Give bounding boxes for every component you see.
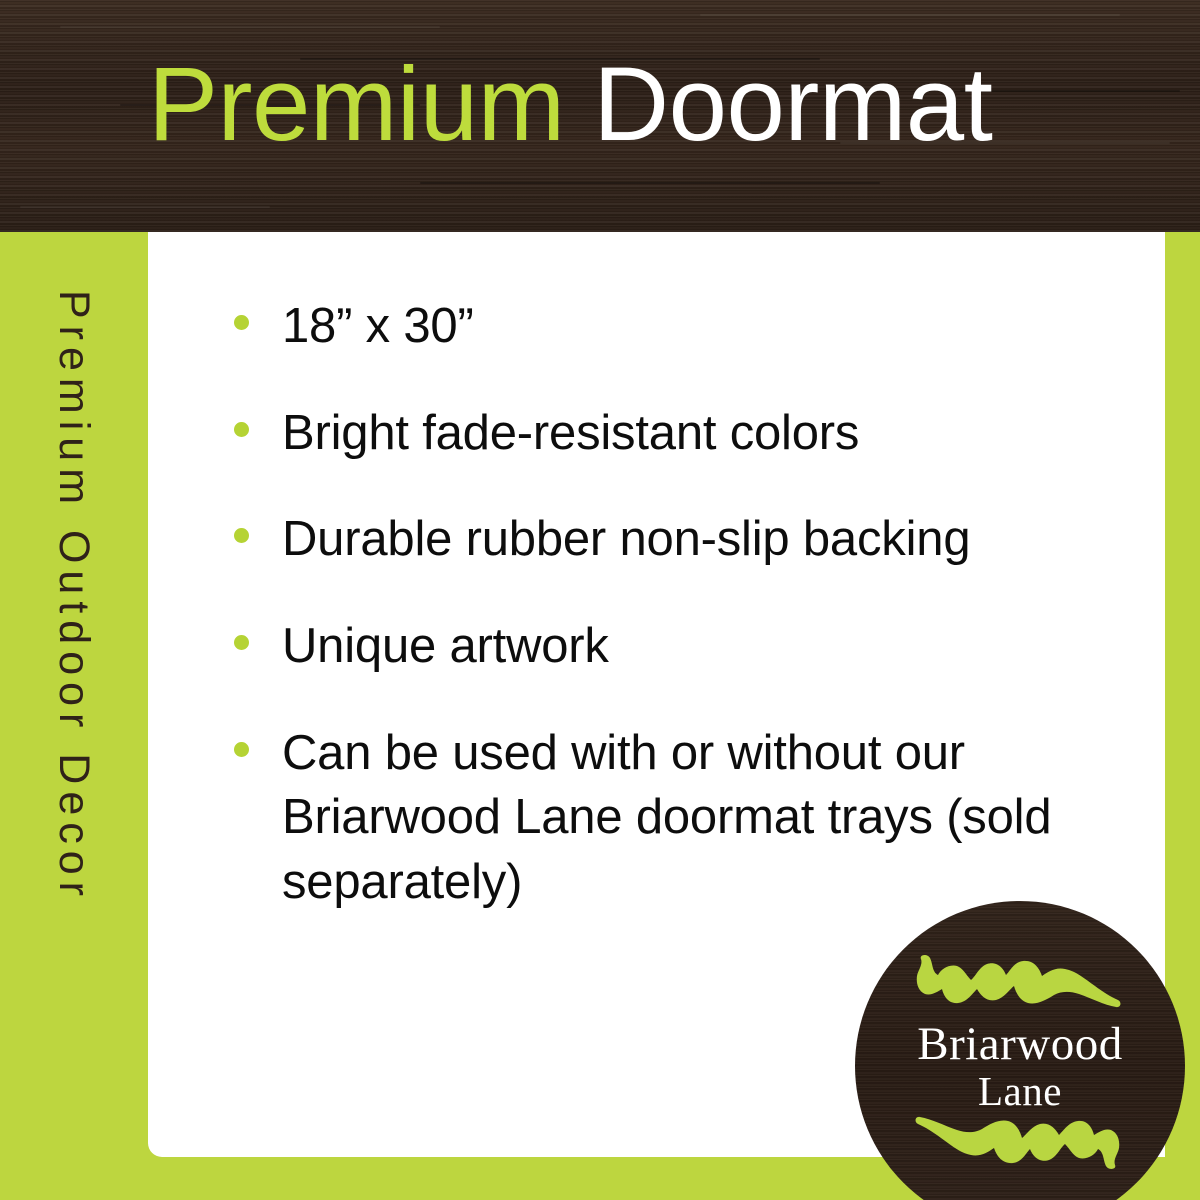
- brand-logo-badge: Briarwood Lane: [855, 901, 1185, 1200]
- feature-list: 18” x 30” Bright fade-resistant colors D…: [230, 294, 1140, 915]
- list-item: Bright fade-resistant colors: [230, 401, 1140, 466]
- page-title: Premium Doormat: [148, 52, 992, 157]
- list-item: 18” x 30”: [230, 294, 1140, 359]
- sidebar-label-wrapper: Premium Outdoor Decor: [0, 232, 148, 1200]
- wood-grain-streak: [700, 14, 1120, 16]
- wood-grain-streak: [20, 206, 270, 208]
- brand-wordmark: Briarwood Lane: [855, 1021, 1185, 1114]
- sidebar-category-label: Premium Outdoor Decor: [49, 290, 98, 903]
- list-item: Can be used with or without our Briarwoo…: [230, 721, 1140, 915]
- brand-name-line-1: Briarwood: [855, 1021, 1185, 1069]
- bullet-dot-icon: [234, 422, 249, 437]
- wood-grain-streak: [420, 182, 880, 184]
- product-feature-card: Premium Doormat Premium Outdoor Decor 18…: [0, 0, 1200, 1200]
- feature-text: 18” x 30”: [282, 299, 474, 353]
- header-wood-banner: Premium Doormat: [0, 0, 1200, 232]
- page-title-accent: Premium: [148, 46, 565, 163]
- list-item: Unique artwork: [230, 614, 1140, 679]
- page-title-main: Doormat: [593, 46, 992, 163]
- bullet-dot-icon: [234, 742, 249, 757]
- bullet-dot-icon: [234, 315, 249, 330]
- feature-text: Durable rubber non-slip backing: [282, 512, 970, 566]
- list-item: Durable rubber non-slip backing: [230, 507, 1140, 572]
- wood-grain-streak: [960, 90, 1180, 92]
- brand-name-line-2: Lane: [855, 1069, 1185, 1114]
- feature-text: Unique artwork: [282, 619, 609, 673]
- wood-grain-streak: [60, 26, 440, 28]
- sidebar-vertical-band: Premium Outdoor Decor: [0, 232, 148, 1200]
- oak-leaf-icon: [913, 953, 1123, 1015]
- feature-text: Can be used with or without our Briarwoo…: [282, 726, 1051, 909]
- bullet-dot-icon: [234, 528, 249, 543]
- oak-leaf-icon: [913, 1109, 1123, 1171]
- feature-text: Bright fade-resistant colors: [282, 406, 859, 460]
- brand-logo-content: Briarwood Lane: [855, 901, 1185, 1200]
- bullet-dot-icon: [234, 635, 249, 650]
